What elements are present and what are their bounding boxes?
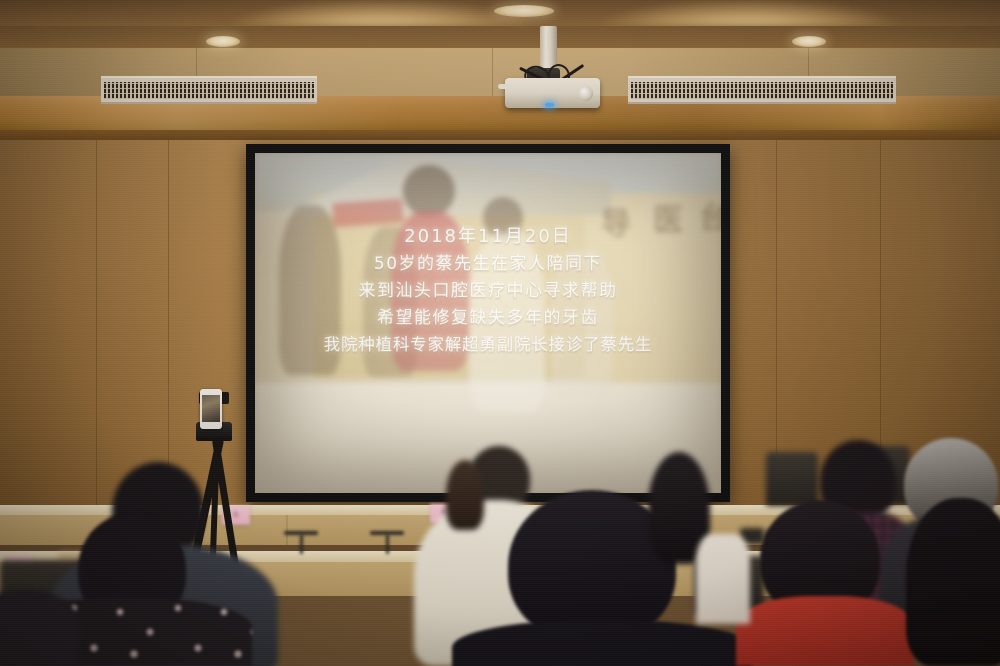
wall-seam xyxy=(96,140,97,540)
cove-light-glow-left xyxy=(230,0,530,26)
vent-grill xyxy=(631,82,893,99)
attendee-head xyxy=(446,460,484,530)
cove-light-glow-right xyxy=(600,0,900,26)
screenshot-root: 导 医 台 2018年11月20日 50岁的蔡先生在家人陪同下 来到汕头口腔医疗… xyxy=(0,0,1000,666)
projector-connector xyxy=(498,84,512,89)
chair xyxy=(766,452,818,506)
projector-lens-icon xyxy=(578,86,593,101)
ceiling-second-band xyxy=(0,26,1000,48)
phone-screen[interactable] xyxy=(202,395,220,422)
attendee-red-top-body xyxy=(736,596,914,666)
air-vent-right xyxy=(628,76,896,104)
microphone-stand xyxy=(300,534,303,554)
beam-lip xyxy=(0,130,1000,140)
screen-vignette xyxy=(255,153,721,493)
air-vent-left xyxy=(101,76,317,104)
projector-power-led xyxy=(545,103,554,107)
downlight-icon xyxy=(792,36,826,47)
projection-screen[interactable]: 导 医 台 2018年11月20日 50岁的蔡先生在家人陪同下 来到汕头口腔医疗… xyxy=(255,153,721,493)
vent-grill xyxy=(104,82,314,99)
microphone-base xyxy=(284,531,318,535)
attendee-center-front-body xyxy=(452,620,752,666)
downlight-icon xyxy=(494,5,554,17)
attendee-long-hair-head xyxy=(906,498,1000,666)
ceiling-seam xyxy=(492,48,493,96)
attendee-white-far xyxy=(696,534,750,624)
microphone-stand xyxy=(386,534,389,554)
downlight-icon xyxy=(206,36,240,47)
desk-seam xyxy=(286,515,288,545)
microphone-base xyxy=(370,531,404,535)
